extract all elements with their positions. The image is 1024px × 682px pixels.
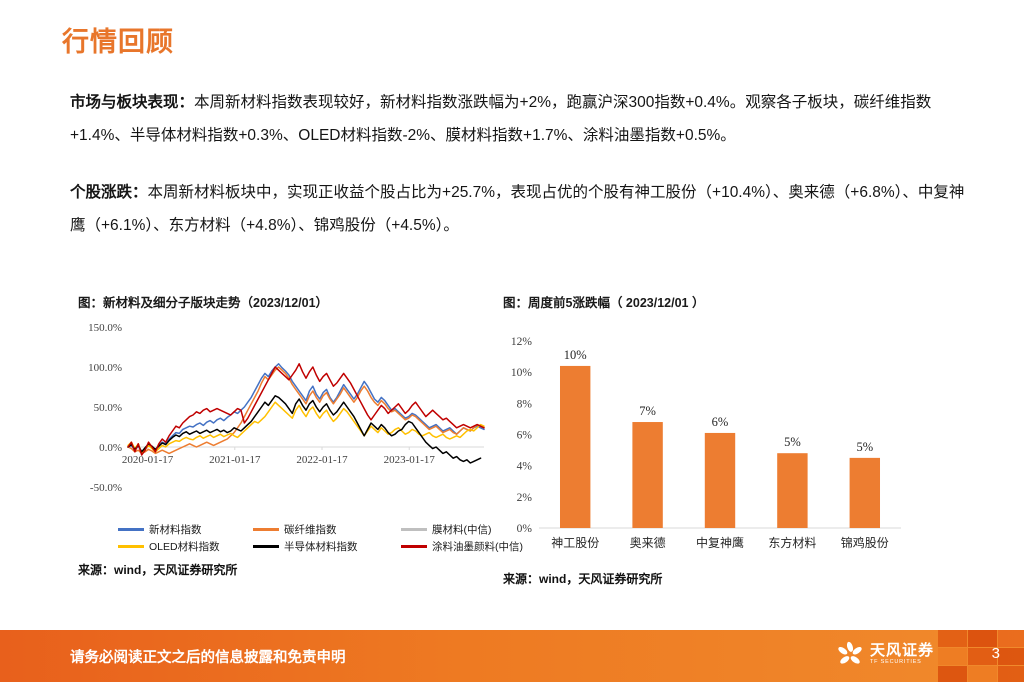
x-axis-tick-label: 2023-01-17 [384,454,436,466]
y-axis-tick-label: 100.0% [88,362,122,374]
y-axis-tick-label: -50.0% [90,482,122,494]
legend-label: 半导体材料指数 [284,539,358,554]
paragraph-market-performance: 市场与板块表现：本周新材料指数表现较好，新材料指数涨跌幅为+2%，跑赢沪深300… [70,86,970,152]
logo-name-cn: 天风证券 [870,643,934,658]
x-axis-tick-label: 2020-01-17 [122,454,174,466]
flower-logo-icon [837,641,863,667]
x-axis-category-label: 神工股份 [551,536,599,550]
bar-data-label: 7% [639,404,656,418]
y-axis-tick-label: 50.0% [94,402,122,414]
y-axis-tick-label: 8% [517,398,533,410]
company-logo: 天风证券 TF SECURITIES [837,641,934,667]
line-chart-svg: -50.0%0.0%50.0%100.0%150.0%2020-01-17202… [70,319,490,519]
legend-item[interactable]: OLED材料指数 [118,538,253,555]
x-axis-category-label: 锦鸡股份 [841,535,889,550]
legend-item[interactable]: 新材料指数 [118,521,253,538]
x-axis-category-label: 东方材料 [768,535,816,550]
paragraph-1-text: 本周新材料指数表现较好，新材料指数涨跌幅为+2%，跑赢沪深300指数+0.4%。… [70,94,931,144]
chart-right-title: 图：周度前5涨跌幅（ 2023/12/01 ） [503,292,925,311]
chart-left-source: 来源：wind，天风证券研究所 [78,561,490,578]
chart-left-legend: 新材料指数碳纤维指数膜材料(中信)OLED材料指数半导体材料指数涂料油墨颜料(中… [118,521,490,555]
footer-disclaimer: 请务必阅读正文之后的信息披露和免责申明 [70,646,346,667]
legend-label: OLED材料指数 [149,539,220,554]
bar[interactable] [560,366,590,528]
bar-data-label: 5% [856,440,873,454]
page-title: 行情回顾 [62,20,174,59]
x-axis-tick-label: 2022-01-17 [296,454,348,466]
paragraph-stock-movers: 个股涨跌：本周新材料板块中，实现正收益个股占比为+25.7%，表现占优的个股有神… [70,176,970,242]
paragraph-2-text: 本周新材料板块中，实现正收益个股占比为+25.7%，表现占优的个股有神工股份（+… [70,184,964,234]
bar[interactable] [705,433,735,528]
x-axis-category-label: 中复神鹰 [696,535,744,550]
bar-data-label: 10% [564,348,587,362]
legend-swatch [401,545,427,548]
legend-label: 膜材料(中信) [432,522,492,537]
y-axis-tick-label: 12% [511,336,533,348]
footer-tile-decoration [938,630,1024,682]
bar-chart-svg: 0%2%4%6%8%10%12%10%神工股份7%奥来德6%中复神鹰5%东方材料… [495,319,915,564]
chart-right-source: 来源：wind，天风证券研究所 [503,570,925,587]
line-series [128,396,481,463]
chart-panel-top5-movers: 图：周度前5涨跌幅（ 2023/12/01 ） 0%2%4%6%8%10%12%… [495,292,925,592]
legend-swatch [253,545,279,548]
y-axis-tick-label: 0% [517,523,533,535]
paragraph-1-lead: 市场与板块表现： [70,94,194,111]
bar-data-label: 5% [784,435,801,449]
y-axis-tick-label: 150.0% [88,322,122,334]
y-axis-tick-label: 10% [511,367,533,379]
bar[interactable] [777,453,807,528]
legend-label: 碳纤维指数 [284,522,337,537]
legend-item[interactable]: 碳纤维指数 [253,521,401,538]
footer-bar: 请务必阅读正文之后的信息披露和免责申明 天风证券 TF SECURITIES 3 [0,630,1024,682]
legend-swatch [253,528,279,531]
legend-item[interactable]: 半导体材料指数 [253,538,401,555]
logo-name-en: TF SECURITIES [870,658,934,666]
legend-swatch [118,545,144,548]
bar-data-label: 6% [712,415,729,429]
y-axis-tick-label: 2% [517,492,533,504]
legend-swatch [118,528,144,531]
y-axis-tick-label: 4% [517,461,533,473]
legend-label: 新材料指数 [149,522,202,537]
chart-left-plot: -50.0%0.0%50.0%100.0%150.0%2020-01-17202… [70,319,490,519]
x-axis-category-label: 奥来德 [630,535,666,550]
chart-left-title: 图：新材料及细分子版块走势（2023/12/01） [78,292,490,311]
chart-right-plot: 0%2%4%6%8%10%12%10%神工股份7%奥来德6%中复神鹰5%东方材料… [495,319,925,564]
y-axis-tick-label: 0.0% [99,442,122,454]
chart-panel-index-trend: 图：新材料及细分子版块走势（2023/12/01） -50.0%0.0%50.0… [70,292,490,592]
page-number: 3 [992,645,1000,662]
x-axis-tick-label: 2021-01-17 [209,454,261,466]
paragraph-2-lead: 个股涨跌： [70,184,148,201]
y-axis-tick-label: 6% [517,430,533,442]
legend-swatch [401,528,427,531]
bar[interactable] [632,422,662,528]
bar[interactable] [850,458,880,528]
